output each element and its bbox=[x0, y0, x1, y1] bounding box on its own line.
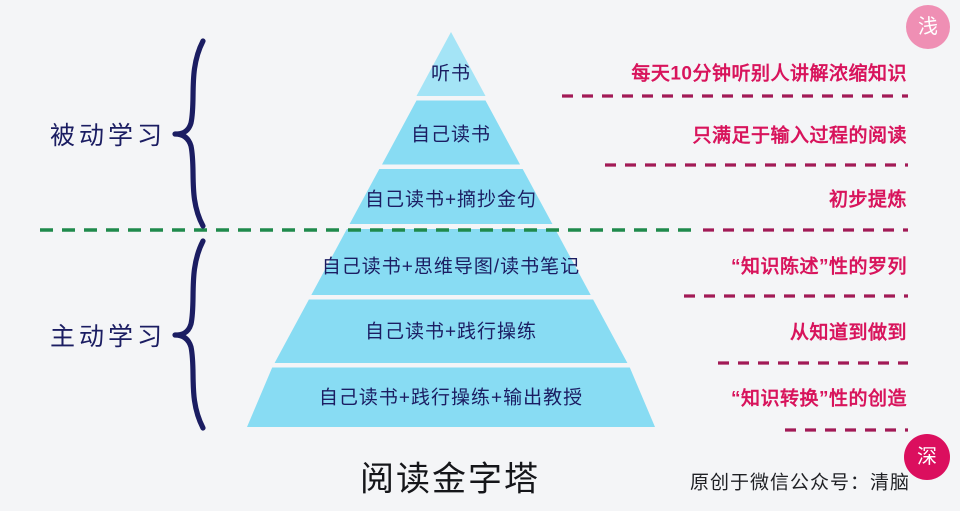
badge-deep: 深 bbox=[904, 434, 950, 480]
pyramid-tier-label-read-mindmap: 自己读书+思维导图/读书笔记 bbox=[322, 252, 580, 279]
brace-active-learning bbox=[175, 241, 203, 428]
pyramid-tier-label-read-excerpt: 自己读书+摘抄金句 bbox=[365, 185, 537, 212]
pyramid-tier-label-read-practice: 自己读书+践行操练 bbox=[365, 317, 537, 344]
side-note-self-read: 只满足于输入过程的阅读 bbox=[692, 121, 907, 148]
group-label-active-learning: 主动学习 bbox=[50, 317, 166, 353]
pyramid-tier-label-self-read: 自己读书 bbox=[411, 120, 491, 147]
side-note-listen-books: 每天10分钟听别人讲解浓缩知识 bbox=[631, 59, 907, 86]
side-note-read-practice: 从知道到做到 bbox=[790, 318, 907, 345]
reading-pyramid-infographic: 被动学习 主动学习 听书 自己读书 自己读书+摘抄金句 自己读书+思维导图/读书… bbox=[0, 0, 960, 511]
pyramid-tier-label-read-teach: 自己读书+践行操练+输出教授 bbox=[319, 383, 583, 410]
page-title: 阅读金字塔 bbox=[360, 452, 540, 501]
group-label-passive-learning: 被动学习 bbox=[50, 116, 166, 152]
credit-line: 原创于微信公众号：清脑 bbox=[690, 468, 910, 495]
pyramid-tier-label-listen-books: 听书 bbox=[431, 59, 471, 86]
side-note-read-mindmap: “知识陈述”性的罗列 bbox=[731, 252, 907, 279]
badge-shallow: 浅 bbox=[906, 5, 950, 49]
side-note-read-excerpt: 初步提炼 bbox=[829, 185, 907, 212]
side-note-read-teach: “知识转换”性的创造 bbox=[731, 384, 907, 411]
brace-passive-learning bbox=[175, 41, 203, 226]
